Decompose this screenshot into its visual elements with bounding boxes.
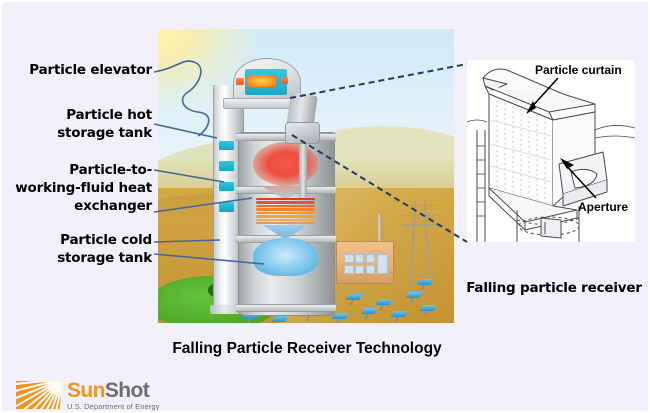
heat-exchanger-coil: [256, 215, 315, 217]
particle-cold-storage-tank: [253, 238, 318, 276]
slide-caption: Falling Particle Receiver Technology: [122, 340, 492, 358]
annotation-aperture: Aperture: [578, 200, 628, 214]
building-window: [377, 254, 387, 274]
pylon-crossarm: [402, 205, 437, 207]
heat-exchanger-coil: [256, 198, 315, 200]
sunshot-wordmark: SunShot U.S. Department of Energy: [67, 380, 160, 411]
building-window: [355, 254, 364, 263]
riser-pipe: [299, 138, 308, 197]
building-window: [344, 254, 353, 263]
logo-word-sun: Sun: [67, 379, 105, 402]
callout-particle-elevator: Particle elevator: [12, 62, 152, 80]
power-block-building: [336, 241, 394, 284]
particle-to-working-fluid-heat-exchanger: [256, 198, 315, 224]
building-window: [366, 265, 375, 274]
heat-exchanger-coil: [256, 212, 315, 214]
heliostat: [391, 311, 407, 317]
building-window: [366, 254, 375, 263]
elevator-port: [219, 161, 234, 170]
heat-exchanger-coil: [256, 222, 315, 224]
building-window: [344, 265, 353, 274]
heat-exchanger-coil: [256, 201, 315, 203]
exhaust-stack: [377, 214, 382, 243]
particle-hot-storage-tank: [253, 142, 318, 186]
callout-particle-hot-storage-tank: Particle hot storage tank: [12, 107, 152, 143]
heat-exchanger-coil: [256, 205, 315, 207]
heat-exchanger-coil: [256, 208, 315, 210]
heliostat: [346, 294, 362, 300]
heliostat: [272, 316, 288, 322]
elevator-port: [219, 202, 234, 211]
receiver-hot-element: [236, 78, 243, 86]
heliostat: [405, 292, 421, 298]
crane-head: [285, 122, 320, 145]
callout-heat-exchanger: Particle-to- working-fluid heat exchange…: [6, 162, 152, 215]
building-window: [355, 265, 364, 274]
transmission-tower: [407, 200, 434, 288]
sunshot-rays-icon: [16, 381, 62, 409]
heliostat: [331, 313, 347, 319]
pylon-leg: [410, 200, 416, 288]
heat-exchanger-coil: [256, 219, 315, 221]
receiver-aperture-glow: [247, 75, 277, 87]
vessel-rim: [236, 304, 336, 312]
logo-subtitle: U.S. Department of Energy: [67, 403, 160, 411]
falling-particle-receiver-illustration: [158, 29, 454, 323]
elevator-port: [219, 182, 234, 191]
slide-canvas: Particle curtain Aperture Particle eleva…: [0, 0, 650, 413]
detail-panel-caption: Falling particle receiver: [464, 280, 644, 296]
elevator-port: [219, 141, 234, 150]
receiver-hot-element: [281, 77, 288, 85]
pylon-leg: [424, 200, 430, 288]
sunshot-logo: SunShot U.S. Department of Energy: [16, 380, 160, 411]
pylon-crossarm: [402, 215, 437, 217]
callout-particle-cold-storage-tank: Particle cold storage tank: [12, 232, 152, 268]
pylon-crossarm: [402, 224, 437, 226]
falling-particle-receiver-line-drawing: [467, 60, 635, 242]
annotation-particle-curtain: Particle curtain: [535, 63, 622, 77]
logo-word-shot: Shot: [105, 379, 149, 402]
heliostat: [376, 299, 392, 305]
